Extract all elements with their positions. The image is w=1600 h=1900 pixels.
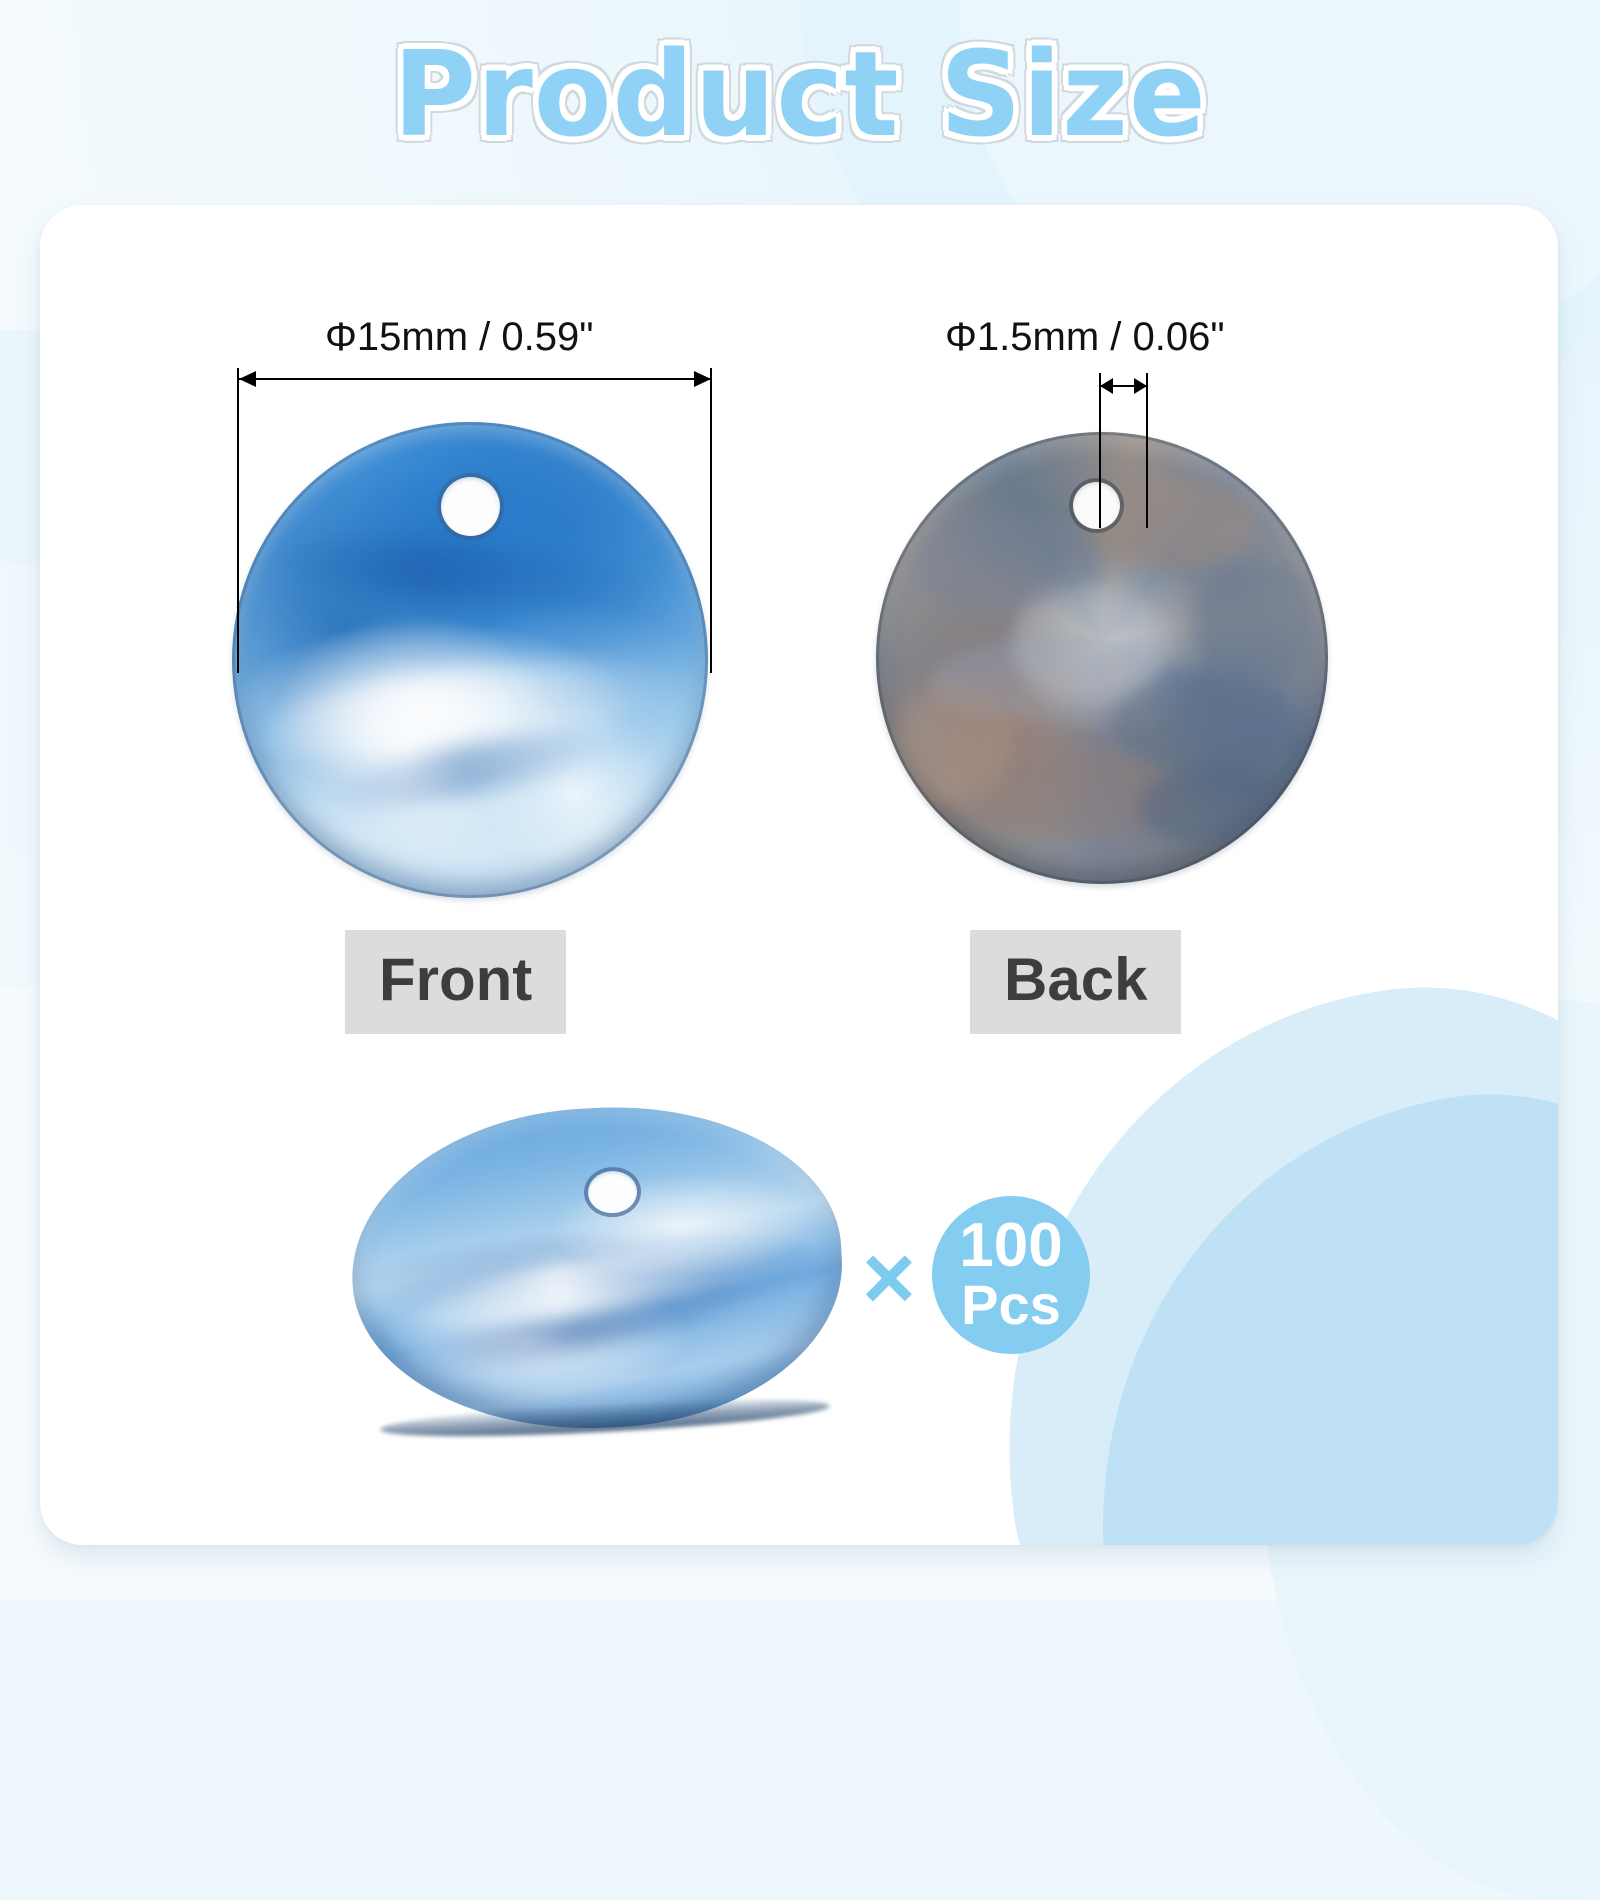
hole-diameter-arrow — [1100, 385, 1147, 387]
card-wave-decoration-mid — [1033, 1049, 1558, 1545]
product-image-angled — [344, 1095, 850, 1440]
hole-diameter-extension-line-left — [1099, 373, 1101, 528]
multiply-icon: × — [862, 1232, 916, 1324]
product-image-front — [232, 422, 708, 898]
page-title: Product Size — [393, 28, 1207, 160]
product-image-back — [876, 432, 1328, 884]
outer-diameter-extension-line-left — [237, 368, 239, 673]
page-title-wrapper: Product Size — [0, 28, 1600, 168]
hole-diameter-extension-line-right — [1146, 373, 1148, 528]
hole-diameter-label: Φ1.5mm / 0.06" — [945, 315, 1225, 360]
back-shell-hole — [1073, 482, 1120, 529]
outer-diameter-extension-line-right — [710, 368, 712, 673]
front-shell-hole — [441, 477, 500, 536]
product-size-card: Φ15mm / 0.59" Φ1.5mm / 0.06" Front Back — [40, 205, 1558, 1545]
outer-diameter-arrow — [239, 378, 711, 380]
view-label-front: Front — [345, 930, 566, 1034]
quantity-count: 100 — [959, 1216, 1062, 1276]
view-label-back: Back — [970, 930, 1181, 1034]
quantity-unit: Pcs — [961, 1276, 1061, 1334]
quantity-badge: 100 Pcs — [932, 1196, 1090, 1354]
outer-diameter-label: Φ15mm / 0.59" — [325, 315, 593, 360]
